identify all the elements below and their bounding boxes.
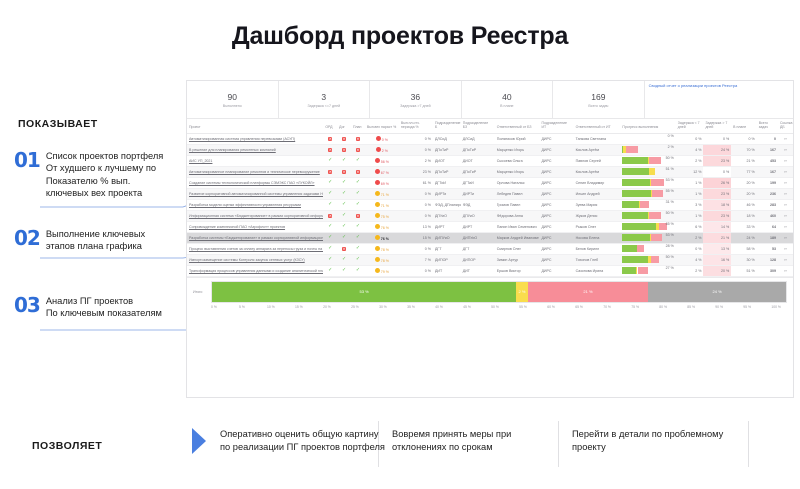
check-icon: ✓ bbox=[328, 234, 332, 240]
cross-icon: ✕ bbox=[342, 170, 347, 175]
col-otv-bz[interactable]: Ответственный от БЗ bbox=[495, 119, 540, 133]
col-project[interactable]: Проект bbox=[187, 119, 323, 133]
cell-otv-it: Тихонов Глеб bbox=[574, 254, 621, 265]
cell-delay-7-plus: 20 % bbox=[703, 265, 731, 276]
cross-icon: ✕ bbox=[356, 170, 361, 175]
benefit-2: Вовремя принять меры при отклонениях по … bbox=[392, 428, 557, 453]
status-dot-icon bbox=[375, 158, 380, 163]
col-ord[interactable]: ОРД bbox=[323, 119, 337, 133]
axis-tick: 40 % bbox=[435, 305, 463, 309]
cell-podr-b: ФЭД, ДПланирования и отчетности bbox=[433, 199, 461, 210]
cross-icon: ✕ bbox=[342, 137, 347, 142]
cell-plan: ✓ bbox=[351, 177, 365, 188]
stacked-bar[interactable]: 53 %2 %21 %24 % bbox=[211, 281, 787, 303]
annotation-line-3: Показателю % вып. bbox=[46, 176, 131, 186]
report-note-card: Сводный отчет о реализации проектов Реес… bbox=[645, 81, 793, 118]
cell-progress: 28 % bbox=[620, 243, 675, 254]
arrow-icon bbox=[192, 428, 206, 454]
cell-delay-7-plus: 23 % bbox=[703, 155, 731, 166]
divider bbox=[558, 421, 559, 467]
cell-delay-7-plus: 0 % bbox=[703, 166, 731, 177]
check-icon: ✓ bbox=[342, 201, 346, 207]
stack-segment-0[interactable]: 53 % bbox=[212, 282, 516, 302]
cell-delay-7-plus: 26 % bbox=[703, 177, 731, 188]
cell-dog: ✓ bbox=[337, 254, 351, 265]
cell-delay-7-plus: 21 % bbox=[703, 232, 731, 243]
cell-podr-it: ДИРС bbox=[539, 188, 573, 199]
cell-project[interactable]: Создание системы технологической платфор… bbox=[187, 177, 323, 188]
axis-tick: 10 % bbox=[267, 305, 295, 309]
kpi-card-1[interactable]: 3 Задержка <=7 дней bbox=[279, 81, 371, 118]
cell-plan: ✓ bbox=[351, 232, 365, 243]
cell-delay-7-plus: 18 % bbox=[703, 199, 731, 210]
cell-podr-b: ДГТ bbox=[433, 243, 461, 254]
cell-link[interactable]: ›› bbox=[778, 133, 793, 144]
cell-status: 78 % bbox=[365, 254, 399, 265]
check-icon: ✓ bbox=[328, 201, 332, 207]
cell-podr-b: ДИПОР bbox=[433, 254, 461, 265]
cell-project[interactable]: Разработка системы «Бюджетирование» в ра… bbox=[187, 232, 323, 243]
cell-plan: ✓ bbox=[351, 221, 365, 232]
cell-ord: ✓ bbox=[323, 199, 337, 210]
check-icon: ✓ bbox=[342, 157, 346, 163]
cell-podr-it: ДИРС bbox=[539, 166, 573, 177]
cell-progress: 50 % bbox=[620, 155, 675, 166]
cell-veh-value: 56 % bbox=[381, 160, 389, 164]
cell-plan: ✓ bbox=[351, 243, 365, 254]
annotation-text: Анализ ПГ проектов По ключевым показател… bbox=[46, 295, 162, 320]
cell-total: 309 bbox=[757, 265, 778, 276]
cell-veh-value: 78 % bbox=[381, 259, 389, 263]
col-inplan[interactable]: В плане bbox=[731, 119, 757, 133]
status-dot-icon bbox=[375, 202, 380, 207]
cell-podr-it: ДИРС bbox=[539, 254, 573, 265]
cell-plan: ✕ bbox=[351, 166, 365, 177]
col-otv-it[interactable]: Ответственный от ИТ bbox=[574, 119, 621, 133]
table-row[interactable]: Сопровождение комплексной ПАО «Аэрофлот»… bbox=[187, 221, 793, 232]
cell-inplan: 20 % bbox=[731, 177, 757, 188]
allows-label: ПОЗВОЛЯЕТ bbox=[32, 440, 102, 452]
cell-podr-bz: ДГТ bbox=[461, 243, 495, 254]
cell-link[interactable]: ›› bbox=[778, 232, 793, 243]
cell-otv-bz: Поляников Юрий bbox=[495, 133, 540, 144]
check-icon: ✓ bbox=[356, 201, 360, 207]
cell-podr-bz: ДГТиИ bbox=[461, 177, 495, 188]
status-dot-icon bbox=[375, 191, 380, 196]
cell-podr-bz: ДПоТиР bbox=[461, 144, 495, 155]
summary-label: Итого bbox=[193, 290, 207, 294]
cell-podr-b: ДИТ bbox=[433, 265, 461, 276]
check-icon: ✓ bbox=[342, 256, 346, 262]
cell-delay-7: 1 % bbox=[676, 210, 704, 221]
cell-otv-it: Носова Елена bbox=[574, 232, 621, 243]
cross-icon: ✕ bbox=[356, 137, 361, 142]
cell-total: 460 bbox=[757, 210, 778, 221]
check-icon: ✓ bbox=[342, 190, 346, 196]
cell-dog: ✓ bbox=[337, 232, 351, 243]
cross-icon: ✕ bbox=[356, 148, 361, 153]
status-dot-icon bbox=[375, 213, 380, 218]
cell-otv-it: Ильин Андрей bbox=[574, 188, 621, 199]
cell-link[interactable]: ›› bbox=[778, 177, 793, 188]
cell-project[interactable]: АИС УП_2021 bbox=[187, 155, 323, 166]
cell-dog: ✓ bbox=[337, 265, 351, 276]
check-icon: ✓ bbox=[342, 234, 346, 240]
cell-project[interactable]: Автоматизированная система управления пе… bbox=[187, 133, 323, 144]
table-row[interactable]: Развитие корпоративной автоматизированно… bbox=[187, 188, 793, 199]
annotation-line-1: Анализ ПГ проектов bbox=[46, 296, 133, 306]
stack-segment-2[interactable]: 21 % bbox=[528, 282, 649, 302]
cell-veh-value: 75 % bbox=[381, 215, 389, 219]
cell-plan: ✓ bbox=[351, 199, 365, 210]
col-progress[interactable]: Прогресс выполнения bbox=[620, 119, 675, 133]
cell-otch: 13 % bbox=[399, 221, 433, 232]
divider bbox=[748, 421, 749, 467]
benefit-1: Оперативно оценить общую картину по реал… bbox=[220, 428, 385, 453]
axis-tick: 25 % bbox=[351, 305, 379, 309]
cell-delay-7: 2 % bbox=[676, 265, 704, 276]
check-icon: ✓ bbox=[342, 212, 346, 218]
cell-project[interactable]: Разработка модели оценки эффективности у… bbox=[187, 199, 323, 210]
cell-status: 76 % bbox=[365, 221, 399, 232]
cell-dog: ✓ bbox=[337, 199, 351, 210]
stack-segment-3[interactable]: 24 % bbox=[648, 282, 786, 302]
dashboard-panel: 90 Выполнено 3 Задержка <=7 дней 36 Заде… bbox=[186, 80, 794, 398]
cell-dog: ✓ bbox=[337, 177, 351, 188]
axis-tick: 45 % bbox=[463, 305, 491, 309]
cell-otv-it: Белов Кирилл bbox=[574, 243, 621, 254]
cell-dog: ✕ bbox=[337, 144, 351, 155]
cell-link[interactable]: ›› bbox=[778, 221, 793, 232]
kpi-label: Задержка <=7 дней bbox=[307, 104, 340, 108]
col-link[interactable]: Ссылка ДБ bbox=[778, 119, 793, 133]
status-dot-icon bbox=[375, 169, 380, 174]
cell-delay-7-plus: 0 % bbox=[703, 133, 731, 144]
cell-otv-bz: Смирнов Олег bbox=[495, 243, 540, 254]
cell-podr-bz: ДИРТ bbox=[461, 221, 495, 232]
cell-podr-it: ДИРС bbox=[539, 210, 573, 221]
cell-progress: 31 % bbox=[620, 199, 675, 210]
axis-tick: 75 % bbox=[631, 305, 659, 309]
cross-icon: ✕ bbox=[328, 137, 333, 142]
annotation-number: 01 bbox=[14, 150, 40, 170]
cell-podr-bz: ДИПУиО bbox=[461, 232, 495, 243]
cell-otv-it: Сазонова Ирина bbox=[574, 265, 621, 276]
col-podr-it[interactable]: Подразделение ИТ bbox=[539, 119, 573, 133]
cell-dog: ✕ bbox=[337, 166, 351, 177]
cell-delay-7: 1 % bbox=[676, 188, 704, 199]
cell-progress: 53 % bbox=[620, 177, 675, 188]
cell-podr-it: ДИРС bbox=[539, 133, 573, 144]
cell-podr-bz: ДИРТи bbox=[461, 188, 495, 199]
axis-tick: 60 % bbox=[547, 305, 575, 309]
cell-otv-bz: Марков Андрей Иванович bbox=[495, 232, 540, 243]
cell-podr-b: ДИРТ bbox=[433, 221, 461, 232]
check-icon: ✓ bbox=[356, 223, 360, 229]
shows-label: ПОКАЗЫВАЕТ bbox=[18, 118, 98, 130]
cell-podr-it: ДИРС bbox=[539, 232, 573, 243]
table-head: Проект ОРД Дог План Вып.вех нараст % Вып… bbox=[187, 119, 793, 133]
table-row[interactable]: Разработка модели оценки эффективности у… bbox=[187, 199, 793, 210]
col-podr-b[interactable]: Подразделение Б bbox=[433, 119, 461, 133]
stack-segment-1[interactable]: 2 % bbox=[516, 282, 527, 302]
annotation-line-2: По ключевым показателям bbox=[46, 308, 162, 318]
table-row[interactable]: Информационная система «Бюджетирование» … bbox=[187, 210, 793, 221]
cell-otv-bz: Орлова Наталья bbox=[495, 177, 540, 188]
cell-delay-7: 6 % bbox=[676, 221, 704, 232]
cell-project[interactable]: В решение для планирования ремонтных ком… bbox=[187, 144, 323, 155]
kpi-card-3[interactable]: 40 В плане bbox=[462, 81, 554, 118]
cell-delay-7: 12 % bbox=[676, 166, 704, 177]
cell-link[interactable]: ›› bbox=[778, 155, 793, 166]
table-row[interactable]: Автоматизированное планирование ремонтов… bbox=[187, 166, 793, 177]
col-total[interactable]: Всего задач bbox=[757, 119, 778, 133]
status-dot-icon bbox=[376, 147, 381, 152]
cell-veh-value: 79 % bbox=[381, 270, 389, 274]
cell-otch: 7 % bbox=[399, 254, 433, 265]
progress-microbar bbox=[622, 146, 673, 153]
cell-otv-bz: Зимин Артур bbox=[495, 254, 540, 265]
axis-tick: 85 % bbox=[687, 305, 715, 309]
cell-status: 0 % bbox=[365, 133, 399, 144]
table-row[interactable]: Трансформация процессов управления данны… bbox=[187, 265, 793, 276]
cell-delay-7-plus: 14 % bbox=[703, 221, 731, 232]
cell-status: 78 % bbox=[365, 243, 399, 254]
cell-progress: 51 % bbox=[620, 166, 675, 177]
annotation-line-1: Список проектов портфеля bbox=[46, 151, 163, 161]
cell-delay-7: 4 % bbox=[676, 254, 704, 265]
kpi-value: 36 bbox=[411, 93, 420, 102]
cell-inplan: 46 % bbox=[731, 199, 757, 210]
cell-progress: 55 % bbox=[620, 188, 675, 199]
table-row[interactable]: Автоматизированная система управления пе… bbox=[187, 133, 793, 144]
table-row[interactable]: В решение для планирования ремонтных ком… bbox=[187, 144, 793, 155]
cell-total: 189 bbox=[757, 232, 778, 243]
cell-ord: ✓ bbox=[323, 221, 337, 232]
status-dot-icon bbox=[375, 268, 380, 273]
cell-otch: 0 % bbox=[399, 265, 433, 276]
kpi-card-2[interactable]: 36 Задержка >7 дней bbox=[370, 81, 462, 118]
cell-dog: ✕ bbox=[337, 243, 351, 254]
cell-link[interactable]: ›› bbox=[778, 144, 793, 155]
axis-tick: 0 % bbox=[211, 305, 239, 309]
cell-status: 67 % bbox=[365, 166, 399, 177]
cell-otv-bz: Лебедев Павел bbox=[495, 188, 540, 199]
check-icon: ✓ bbox=[356, 256, 360, 262]
cell-veh-value: 67 % bbox=[381, 171, 389, 175]
cell-plan: ✕ bbox=[351, 210, 365, 221]
col-dog[interactable]: Дог bbox=[337, 119, 351, 133]
annotation-text: Список проектов портфеля От худшего к лу… bbox=[46, 150, 163, 199]
annotation-text: Выполнение ключевых этапов плана графика bbox=[46, 228, 145, 253]
axis-tick: 30 % bbox=[379, 305, 407, 309]
cell-link[interactable]: ›› bbox=[778, 254, 793, 265]
cell-total: 128 bbox=[757, 254, 778, 265]
summary-row: Итого 53 %2 %21 %24 % bbox=[193, 281, 787, 303]
status-dot-icon bbox=[376, 136, 381, 141]
cross-icon: ✕ bbox=[328, 148, 333, 153]
cell-otv-it: Павлов Сергей bbox=[574, 155, 621, 166]
cell-otv-it: Зуева Мария bbox=[574, 199, 621, 210]
cell-otv-it: Рыжов Олег bbox=[574, 221, 621, 232]
check-icon: ✓ bbox=[342, 223, 346, 229]
cell-ord: ✓ bbox=[323, 177, 337, 188]
cell-status: 71 % bbox=[365, 188, 399, 199]
cell-link[interactable]: ›› bbox=[778, 188, 793, 199]
annotation-number: 03 bbox=[14, 295, 40, 315]
cell-otch: 0 % bbox=[399, 243, 433, 254]
cell-otv-bz: Марценко Игорь bbox=[495, 166, 540, 177]
check-icon: ✓ bbox=[356, 234, 360, 240]
cell-delay-7-plus: 16 % bbox=[703, 254, 731, 265]
cell-otch: 0 % bbox=[399, 199, 433, 210]
cell-project[interactable]: Импортозамещение системы Контроля закупо… bbox=[187, 254, 323, 265]
cell-otv-it: Жуков Денис bbox=[574, 210, 621, 221]
summary-axis: 0 %5 %10 %15 %20 %25 %30 %35 %40 %45 %50… bbox=[211, 305, 787, 309]
cell-dog: ✓ bbox=[337, 210, 351, 221]
cell-project[interactable]: Трансформация процессов управления данны… bbox=[187, 265, 323, 276]
cell-podr-it: ДИРС bbox=[539, 155, 573, 166]
page-title: Дашборд проектов Реестра bbox=[0, 22, 800, 51]
cell-otch: 0 % bbox=[399, 133, 433, 144]
col-otch[interactable]: Вып.пл.отч. периода % bbox=[399, 119, 433, 133]
check-icon: ✓ bbox=[328, 267, 332, 273]
cell-dog: ✓ bbox=[337, 188, 351, 199]
cross-icon: ✕ bbox=[328, 214, 333, 219]
cell-inplan: 0 % bbox=[731, 133, 757, 144]
table-body: Автоматизированная система управления пе… bbox=[187, 133, 793, 276]
cell-project[interactable]: Информационная система «Бюджетирование» … bbox=[187, 210, 323, 221]
axis-tick: 55 % bbox=[519, 305, 547, 309]
cell-dog: ✕ bbox=[337, 133, 351, 144]
cell-ord: ✓ bbox=[323, 232, 337, 243]
table-row[interactable]: Импортозамещение системы Контроля закупо… bbox=[187, 254, 793, 265]
cell-podr-bz: ФЭД bbox=[461, 199, 495, 210]
check-icon: ✓ bbox=[356, 179, 360, 185]
cell-otv-bz: Фёдорова Анна bbox=[495, 210, 540, 221]
cell-total: 199 bbox=[757, 177, 778, 188]
cell-link[interactable]: ›› bbox=[778, 166, 793, 177]
summary-chart: Итого 53 %2 %21 %24 % 0 %5 %10 %15 %20 %… bbox=[187, 277, 793, 311]
cell-ord: ✕ bbox=[323, 144, 337, 155]
cell-plan: ✓ bbox=[351, 265, 365, 276]
cell-veh-value: 0 % bbox=[382, 138, 388, 142]
cell-total: 453 bbox=[757, 155, 778, 166]
cell-delay-7: 0 % bbox=[676, 133, 704, 144]
cell-otch: 15 % bbox=[399, 232, 433, 243]
progress-microbar bbox=[622, 135, 673, 142]
col-plan[interactable]: План bbox=[351, 119, 365, 133]
cell-project[interactable]: Развитие корпоративной автоматизированно… bbox=[187, 188, 323, 199]
check-icon: ✓ bbox=[328, 190, 332, 196]
cell-ord: ✓ bbox=[323, 188, 337, 199]
report-note-text[interactable]: Сводный отчет о реализации проектов Реес… bbox=[649, 84, 738, 89]
status-dot-icon bbox=[375, 224, 380, 229]
cell-otv-bz: Ершов Виктор bbox=[495, 265, 540, 276]
cell-veh-value: 76 % bbox=[381, 226, 389, 230]
col-veh[interactable]: Вып.вех нараст % bbox=[365, 119, 399, 133]
cell-project[interactable]: Автоматизированное планирование ремонтов… bbox=[187, 166, 323, 177]
axis-tick: 15 % bbox=[295, 305, 323, 309]
annotation-line-2: От худшего к лучшему по bbox=[46, 163, 156, 173]
kpi-value: 90 bbox=[228, 93, 237, 102]
cell-total: 53 bbox=[757, 243, 778, 254]
cell-otch: 2 % bbox=[399, 155, 433, 166]
check-icon: ✓ bbox=[328, 223, 332, 229]
cross-icon: ✕ bbox=[342, 148, 347, 153]
cell-total: 64 bbox=[757, 221, 778, 232]
kpi-label: Выполнено bbox=[223, 104, 242, 108]
cell-dog: ✓ bbox=[337, 155, 351, 166]
cell-link[interactable]: ›› bbox=[778, 199, 793, 210]
axis-tick: 80 % bbox=[659, 305, 687, 309]
table-row[interactable]: Процесс выставления счетов за оплату апп… bbox=[187, 243, 793, 254]
axis-tick: 65 % bbox=[575, 305, 603, 309]
kpi-card-4[interactable]: 169 Всего задач bbox=[553, 81, 645, 118]
cell-plan: ✕ bbox=[351, 133, 365, 144]
cell-link[interactable]: ›› bbox=[778, 243, 793, 254]
kpi-label: В плане bbox=[500, 104, 513, 108]
annotation-01: 01 Список проектов портфеля От худшего к… bbox=[14, 150, 184, 199]
cell-status: 75 % bbox=[365, 210, 399, 221]
kpi-card-0[interactable]: 90 Выполнено bbox=[187, 81, 279, 118]
cell-delay-7-plus: 24 % bbox=[703, 144, 731, 155]
col-delay-7[interactable]: Задержка < 7 дней bbox=[676, 119, 704, 133]
header-row: Проект ОРД Дог План Вып.вех нараст % Вып… bbox=[187, 119, 793, 133]
cell-link[interactable]: ›› bbox=[778, 265, 793, 276]
cell-inplan: 33 % bbox=[731, 221, 757, 232]
cell-podr-it: ДИРС bbox=[539, 199, 573, 210]
cell-otch: 61 % bbox=[399, 177, 433, 188]
cell-otv-bz: Панин Иван Семенович bbox=[495, 221, 540, 232]
table-row[interactable]: Разработка системы «Бюджетирование» в ра… bbox=[187, 232, 793, 243]
cell-otv-it: Кислов Артём bbox=[574, 144, 621, 155]
cell-project[interactable]: Сопровождение комплексной ПАО «Аэрофлот»… bbox=[187, 221, 323, 232]
cell-podr-bz: ДИОТ bbox=[461, 155, 495, 166]
check-icon: ✓ bbox=[356, 157, 360, 163]
axis-tick: 5 % bbox=[239, 305, 267, 309]
cell-inplan: 18 % bbox=[731, 210, 757, 221]
axis-tick: 70 % bbox=[603, 305, 631, 309]
cell-project[interactable]: Процесс выставления счетов за оплату апп… bbox=[187, 243, 323, 254]
cell-otch: 23 % bbox=[399, 166, 433, 177]
cell-link[interactable]: ›› bbox=[778, 210, 793, 221]
cell-otv-bz: Громов Павел bbox=[495, 199, 540, 210]
cell-delay-7-plus: 23 % bbox=[703, 188, 731, 199]
kpi-value: 169 bbox=[591, 93, 605, 102]
cell-status: 2 % bbox=[365, 144, 399, 155]
cell-status: 76 % bbox=[365, 232, 399, 243]
cell-otv-it: Танкова Светлана bbox=[574, 133, 621, 144]
cell-podr-b: ДИПУиО bbox=[433, 232, 461, 243]
check-icon: ✓ bbox=[342, 267, 346, 273]
cell-ord: ✓ bbox=[323, 265, 337, 276]
cell-podr-b: ДПоТиР bbox=[433, 144, 461, 155]
col-delay-7-plus[interactable]: Задержка > 7 дней bbox=[703, 119, 731, 133]
col-podr-bz[interactable]: Подразделение БЗ bbox=[461, 119, 495, 133]
cell-inplan: 30 % bbox=[731, 254, 757, 265]
cell-otv-it: Сенин Владимир bbox=[574, 177, 621, 188]
cell-podr-it: ДИРС bbox=[539, 177, 573, 188]
status-dot-icon bbox=[375, 257, 380, 262]
cell-podr-b: ДПУиО bbox=[433, 210, 461, 221]
table-row[interactable]: АИС УП_2021✓✓✓ 56 %2 %ДИОТДИОТСысоева Ол… bbox=[187, 155, 793, 166]
table-row[interactable]: Создание системы технологической платфор… bbox=[187, 177, 793, 188]
cell-podr-bz: ДЛСиД bbox=[461, 133, 495, 144]
cell-plan: ✓ bbox=[351, 188, 365, 199]
cell-inplan: 77 % bbox=[731, 166, 757, 177]
cell-ord: ✕ bbox=[323, 166, 337, 177]
